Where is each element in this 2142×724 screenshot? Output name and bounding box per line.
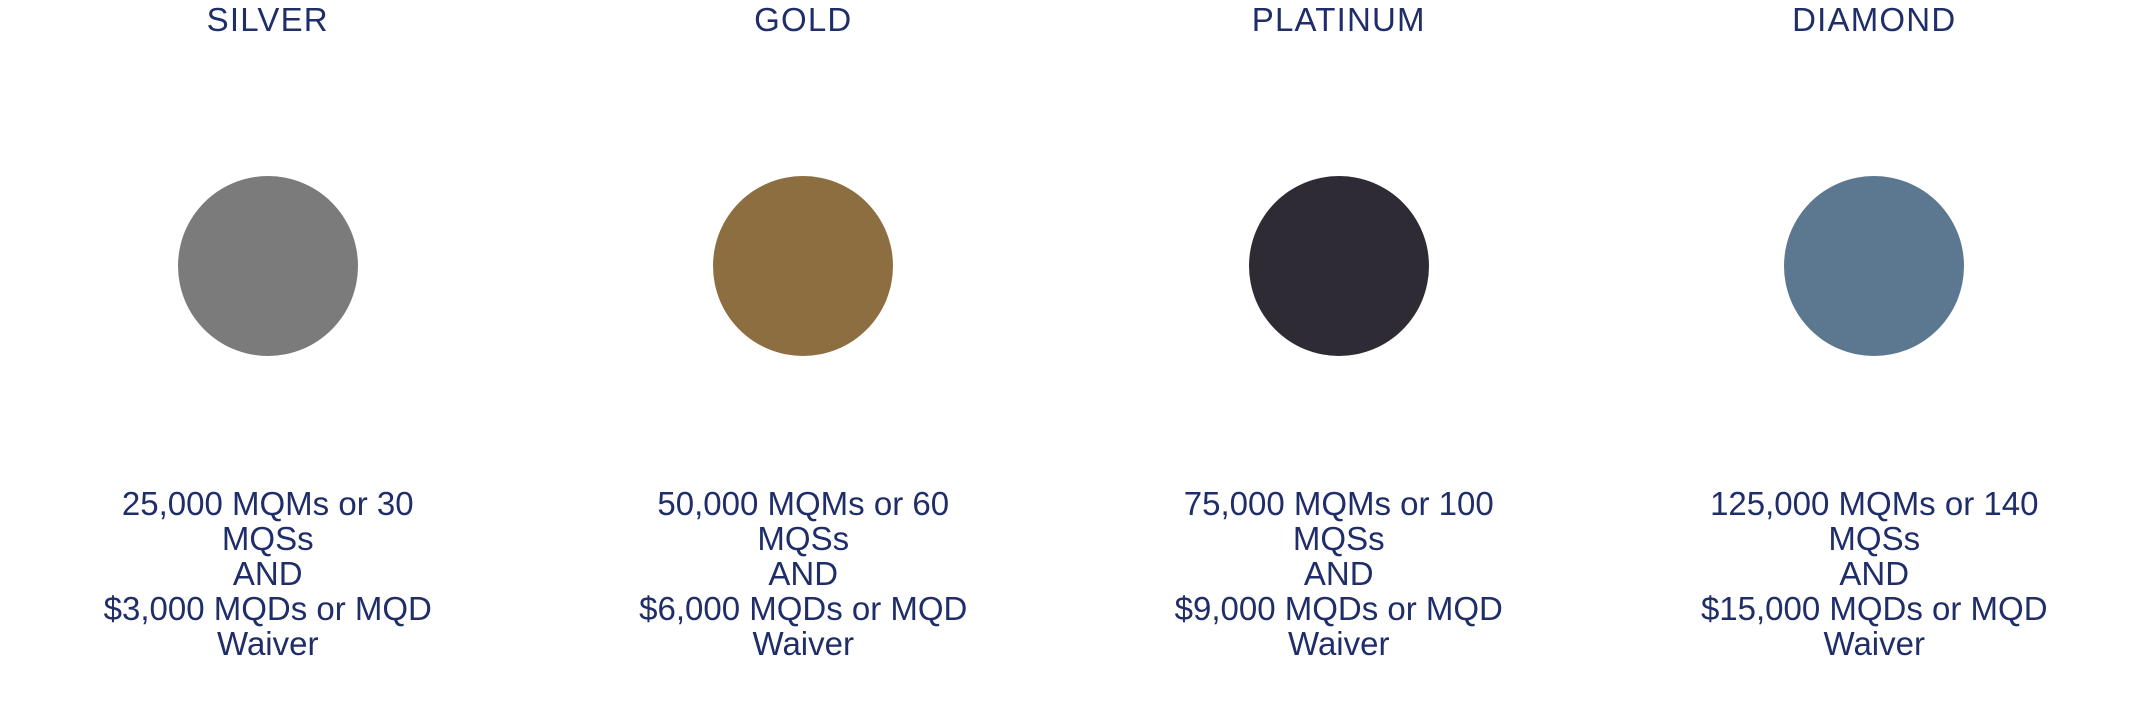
tier-column-gold: GOLD 50,000 MQMs or 60 MQSs AND $6,000 M… [536,0,1072,724]
diamond-medallion-icon [1784,176,1964,356]
tier-requirements-platinum: 75,000 MQMs or 100 MQSs AND $9,000 MQDs … [1071,486,1607,661]
requirement-line: $15,000 MQDs or MQD [1615,591,2135,626]
requirement-line: MQSs [1615,521,2135,556]
platinum-medallion-icon [1249,176,1429,356]
requirement-line: 50,000 MQMs or 60 [544,486,1064,521]
requirement-line: AND [1079,556,1599,591]
requirement-line: $3,000 MQDs or MQD [8,591,528,626]
gold-medallion-icon [713,176,893,356]
tier-column-diamond: DIAMOND 125,000 MQMs or 140 MQSs AND $15… [1607,0,2142,724]
tier-column-silver: SILVER 25,000 MQMs or 30 MQSs AND $3,000… [0,0,536,724]
requirement-line: Waiver [544,626,1064,661]
requirement-line: Waiver [8,626,528,661]
requirement-line: AND [8,556,528,591]
requirement-line: 75,000 MQMs or 100 [1079,486,1599,521]
tier-comparison-board: SILVER 25,000 MQMs or 30 MQSs AND $3,000… [0,0,2142,724]
requirement-line: AND [1615,556,2135,591]
requirement-line: MQSs [8,521,528,556]
requirement-line: $9,000 MQDs or MQD [1079,591,1599,626]
silver-medallion-icon [178,176,358,356]
requirement-line: AND [544,556,1064,591]
tier-title-silver: SILVER [207,0,329,46]
requirement-line: $6,000 MQDs or MQD [544,591,1064,626]
requirement-line: 125,000 MQMs or 140 [1615,486,2135,521]
requirement-line: Waiver [1079,626,1599,661]
requirement-line: MQSs [544,521,1064,556]
requirement-line: MQSs [1079,521,1599,556]
tier-title-platinum: PLATINUM [1252,0,1426,46]
medallion-wrap-gold [536,175,1072,357]
tier-title-gold: GOLD [754,0,852,46]
tier-column-platinum: PLATINUM 75,000 MQMs or 100 MQSs AND $9,… [1071,0,1607,724]
tier-requirements-gold: 50,000 MQMs or 60 MQSs AND $6,000 MQDs o… [536,486,1072,661]
medallion-wrap-silver [0,175,536,357]
medallion-wrap-diamond [1607,175,2142,357]
tier-title-diamond: DIAMOND [1792,0,1956,46]
requirement-line: Waiver [1615,626,2135,661]
tier-requirements-diamond: 125,000 MQMs or 140 MQSs AND $15,000 MQD… [1607,486,2142,661]
medallion-wrap-platinum [1071,175,1607,357]
requirement-line: 25,000 MQMs or 30 [8,486,528,521]
tier-requirements-silver: 25,000 MQMs or 30 MQSs AND $3,000 MQDs o… [0,486,536,661]
